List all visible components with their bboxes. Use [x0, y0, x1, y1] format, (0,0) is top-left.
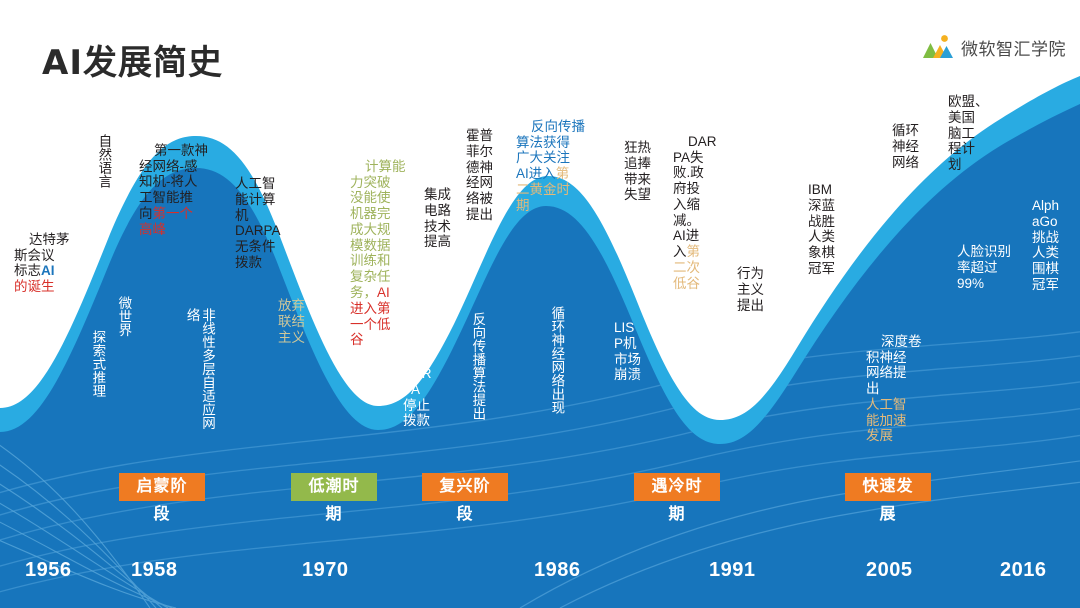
event-nonlinear: 非线性多层自适应网络 [185, 308, 215, 440]
brand-logo: 微软智汇学院 [922, 34, 1066, 60]
event-rnn-appear: 循环神经网络出现 [549, 306, 564, 414]
event-deep-blue: IBM 深蓝 战胜 人类 象棋 冠军 [808, 182, 852, 277]
event-abandon-conn: 放弃 联结 主义 [278, 298, 322, 345]
year-label-2005: 2005 [866, 559, 913, 582]
event-perceptron: 第一款神经网络-感知机-将人工智能推向第一个高峰 [139, 127, 219, 253]
year-label-1958: 1958 [131, 559, 178, 582]
logo-text: 微软智汇学院 [961, 35, 1066, 60]
infographic-canvas: AI发展简史 微软智汇学院 达特茅斯会议标志AI的诞生 自然语言 第一款神经网络… [0, 0, 1080, 608]
event-lisp-crash: LIS P机 市场 崩溃 [614, 320, 654, 383]
stage-badge-enlightenment[interactable]: 启蒙阶段 [119, 473, 205, 501]
stage-badge-cold[interactable]: 遇冷时期 [634, 473, 720, 501]
event-face-recog: 人脸识别 率超过 99% [957, 244, 1033, 291]
event-dcnn: 深度卷积神经网络提出人工智能加速发展 [866, 318, 926, 460]
event-ic-tech: 集成 电路 技术 提高 [424, 187, 468, 250]
event-micro-world: 微世界 [116, 296, 131, 337]
event-second-winter: DARPA失败.政府投入缩减。AI进入第二次低谷 [673, 118, 721, 307]
event-backprop-gold: 反向传播算法获得广大关注AI进入第二黄金时期 [516, 103, 598, 229]
event-first-winter: 计算能力突破没能使机器完成大规模数据训练和复杂任务，AI进入第一个低谷 [350, 143, 406, 364]
year-label-1956: 1956 [25, 559, 72, 582]
event-hype-letdown: 狂热 追捧 带来 失望 [624, 140, 668, 203]
event-brain-project: 欧盟、 美国 脑工 程计 划 [948, 94, 998, 173]
event-behaviorism: 行为 主义 提出 [737, 266, 781, 313]
event-alphago: Alph aGo 挑战 人类 围棋 冠军 [1032, 198, 1074, 293]
event-ai-computer: 人工智 能计算 机 DARPA 无条件 拨款 [235, 176, 303, 271]
event-nlp: 自然语言 [96, 134, 111, 188]
year-label-2016: 2016 [1000, 559, 1047, 582]
year-label-1970: 1970 [302, 559, 349, 582]
page-title: AI发展简史 [42, 35, 223, 84]
event-dartmouth: 达特茅斯会议标志AI的诞生 [14, 216, 96, 311]
event-heuristic: 探索式推理 [90, 330, 105, 398]
event-rnn-2005: 循环 神经 网络 [892, 123, 936, 170]
mountains-logo-icon [922, 34, 954, 60]
event-darpa-stop: DAR PA 停止 拨款 [403, 366, 445, 429]
stage-badge-rapid-growth[interactable]: 快速发展 [845, 473, 931, 501]
year-label-1991: 1991 [709, 559, 756, 582]
stage-badge-renaissance[interactable]: 复兴阶段 [422, 473, 508, 501]
event-hopfield: 霍普 菲尔 德神 经网 络被 提出 [466, 128, 510, 223]
event-backprop-proposed: 反向传播算法提出 [470, 312, 485, 420]
stage-badge-low-tide[interactable]: 低潮时期 [291, 473, 377, 501]
year-label-1986: 1986 [534, 559, 581, 582]
